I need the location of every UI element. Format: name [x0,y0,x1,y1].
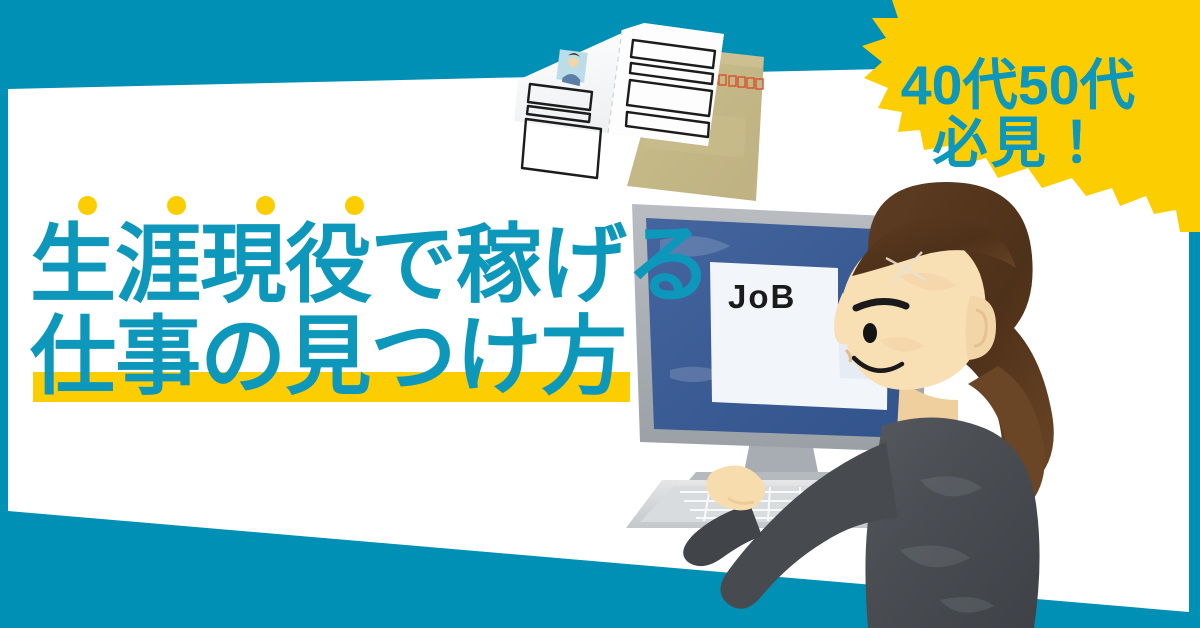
emphasis-dot [345,196,364,215]
headline-line-2-text: 仕事の見つけ方 [30,309,626,405]
svg-text:JoB: JoB [728,278,796,315]
emphasis-dot [78,196,97,215]
badge-line-2: 必見！ [933,113,1108,175]
emphasis-dots [36,196,596,218]
emphasis-dot [167,196,186,215]
headline-block: 生涯現役で稼げる 仕事の見つけ方 [30,196,711,400]
headline-line-1: 生涯現役で稼げる [30,222,711,308]
badge-line-1: 40代50代 [901,57,1135,113]
audience-badge: 40代50代 必見！ [828,0,1200,232]
poster-canvas: JoB [0,0,1200,628]
emphasis-dot [256,196,275,215]
badge-text-block: 40代50代 必見！ [828,0,1200,232]
headline-line-2: 仕事の見つけ方 [30,314,711,400]
